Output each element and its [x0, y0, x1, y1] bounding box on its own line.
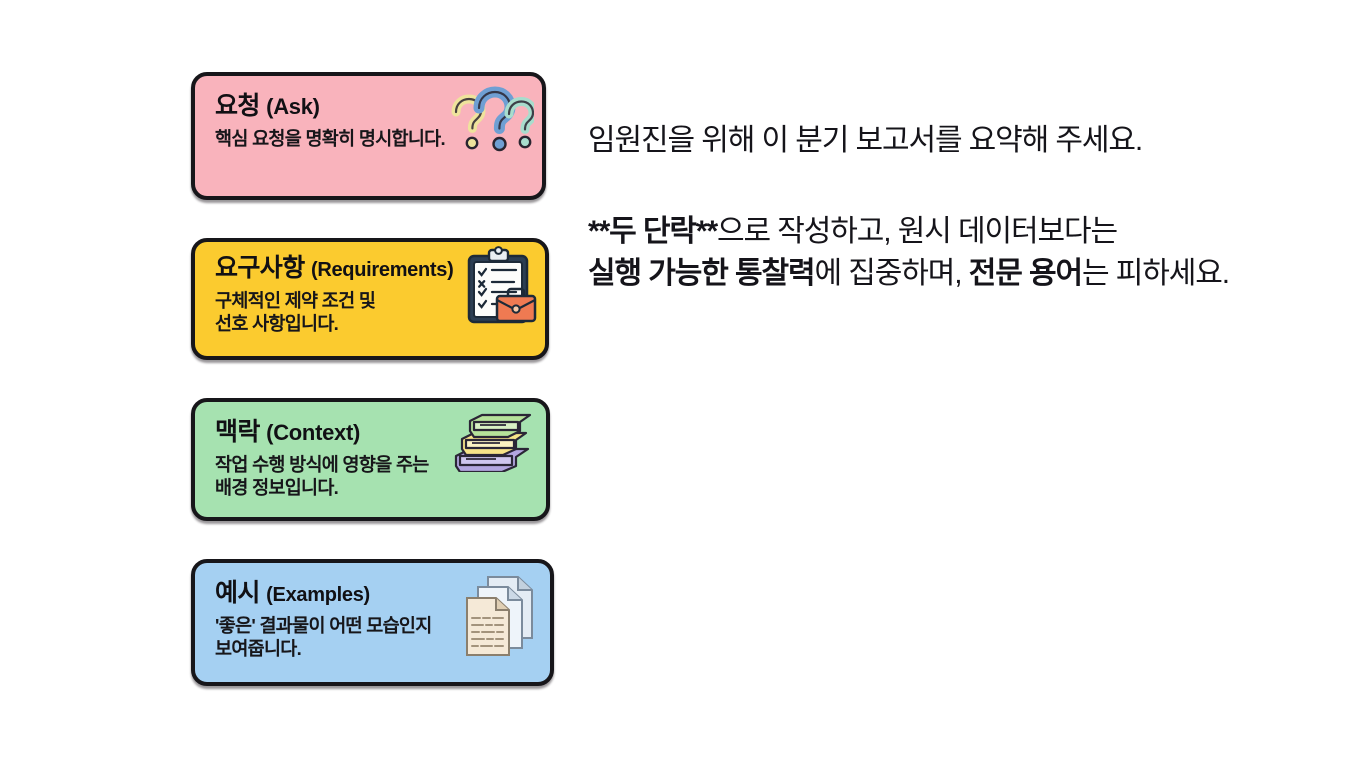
- card-examples-title: 예시 (Examples): [215, 579, 532, 609]
- card-context-title-en: (Context): [266, 420, 360, 445]
- slide-canvas: 요청 (Ask) 핵심 요청을 명확히 명시합니다.: [0, 0, 1365, 768]
- card-requirements-description: 구체적인 제약 조건 및 선호 사항입니다.: [215, 289, 527, 336]
- card-examples[interactable]: 예시 (Examples) '좋은' 결과물이 어떤 모습인지 보여줍니다.: [191, 559, 554, 686]
- prompt-emphasis-jargon: 전문 용어: [969, 257, 1082, 290]
- prompt-text-block: 임원진을 위해 이 분기 보고서를 요약해 주세요. **두 단락**으로 작성…: [588, 120, 1288, 296]
- prompt-emphasis-actionable-insight: 실행 가능한 통찰력: [588, 257, 814, 290]
- card-ask[interactable]: 요청 (Ask) 핵심 요청을 명확히 명시합니다.: [191, 72, 546, 200]
- card-requirements-title: 요구사항 (Requirements): [215, 254, 527, 284]
- prompt-paragraph-2: **두 단락**으로 작성하고, 원시 데이터보다는 실행 가능한 통찰력에 집…: [588, 211, 1288, 296]
- card-requirements-body: 요구사항 (Requirements) 구체적인 제약 조건 및 선호 사항입니…: [195, 242, 545, 352]
- prompt-emphasis-two-paragraphs: **두 단락**: [588, 215, 717, 248]
- card-context-title-ko: 맥락: [215, 418, 260, 446]
- prompt-paragraph-1: 임원진을 위해 이 분기 보고서를 요약해 주세요.: [588, 120, 1288, 163]
- card-ask-description: 핵심 요청을 명확히 명시합니다.: [215, 127, 524, 151]
- prompt-segment-2: 으로 작성하고, 원시 데이터보다는: [717, 215, 1117, 248]
- card-requirements[interactable]: 요구사항 (Requirements) 구체적인 제약 조건 및 선호 사항입니…: [191, 238, 549, 360]
- card-context[interactable]: 맥락 (Context) 작업 수행 방식에 영향을 주는 배경 정보입니다.: [191, 398, 550, 521]
- prompt-segment-4: 에 집중하며,: [814, 257, 968, 290]
- card-context-body: 맥락 (Context) 작업 수행 방식에 영향을 주는 배경 정보입니다.: [195, 402, 546, 516]
- card-ask-title-en: (Ask): [266, 94, 320, 119]
- prompt-segment-6: 는: [1082, 257, 1109, 290]
- card-examples-body: 예시 (Examples) '좋은' 결과물이 어떤 모습인지 보여줍니다.: [195, 563, 550, 677]
- card-requirements-title-en: (Requirements): [311, 259, 454, 281]
- card-context-title: 맥락 (Context): [215, 418, 528, 448]
- card-ask-title: 요청 (Ask): [215, 92, 524, 122]
- component-card-list: 요청 (Ask) 핵심 요청을 명확히 명시합니다.: [191, 72, 563, 686]
- card-requirements-title-ko: 요구사항: [215, 254, 305, 282]
- card-ask-title-ko: 요청: [215, 92, 260, 120]
- card-context-description: 작업 수행 방식에 영향을 주는 배경 정보입니다.: [215, 453, 528, 500]
- card-examples-description: '좋은' 결과물이 어떤 모습인지 보여줍니다.: [215, 614, 532, 661]
- prompt-segment-7: 피하세요.: [1116, 257, 1229, 290]
- card-examples-title-ko: 예시: [215, 579, 260, 607]
- card-examples-title-en: (Examples): [266, 584, 370, 606]
- card-ask-body: 요청 (Ask) 핵심 요청을 명확히 명시합니다.: [195, 76, 542, 166]
